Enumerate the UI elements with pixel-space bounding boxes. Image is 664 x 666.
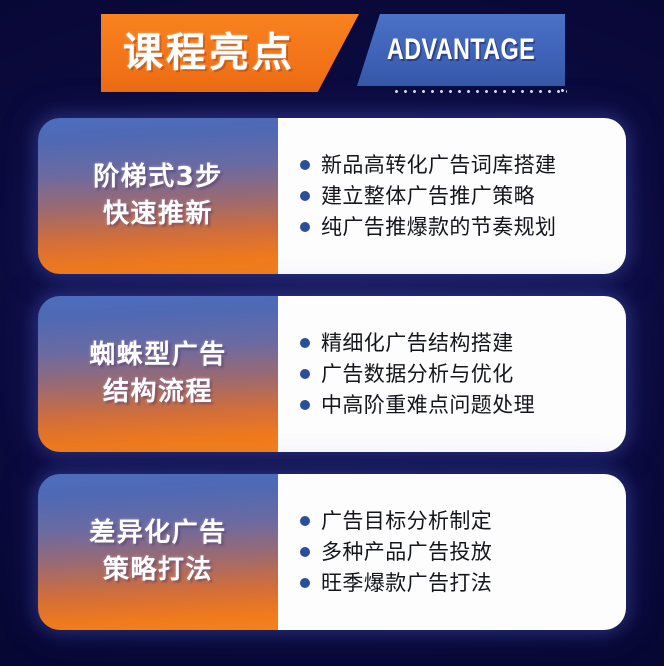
- highlight-card: 蜘蛛型广告 结构流程 精细化广告结构搭建 广告数据分析与优化 中高阶重难点问题处…: [38, 296, 626, 452]
- bullet-text: 纯广告推爆款的节奏规划: [321, 215, 556, 239]
- bullet-item: 广告数据分析与优化: [300, 362, 626, 386]
- header-chinese-block: 课程亮点: [101, 14, 359, 92]
- card-title-line-1: 阶梯式3步: [93, 164, 223, 191]
- card-title-panel: 蜘蛛型广告 结构流程: [38, 296, 278, 452]
- bullet-text: 广告目标分析制定: [321, 509, 492, 533]
- card-title-line-2: 策略打法: [103, 557, 213, 584]
- bullet-dot-icon: [300, 516, 310, 526]
- bullet-item: 建立整体广告推广策略: [300, 184, 626, 208]
- bullet-text: 广告数据分析与优化: [321, 362, 514, 386]
- card-title-line-2: 结构流程: [103, 379, 213, 406]
- bullet-item: 旺季爆款广告打法: [300, 571, 626, 595]
- bullet-dot-icon: [300, 578, 310, 588]
- card-title-line-2: 快速推新: [103, 201, 213, 228]
- highlight-card-list: 阶梯式3步 快速推新 新品高转化广告词库搭建 建立整体广告推广策略 纯广告推爆款…: [0, 118, 664, 652]
- card-bullet-panel: 精细化广告结构搭建 广告数据分析与优化 中高阶重难点问题处理: [278, 296, 626, 452]
- poster-root: ADVANTAGE 课程亮点 阶梯式3步 快速推新 新品高转化广告词库搭建 建立…: [0, 0, 664, 666]
- bullet-item: 多种产品广告投放: [300, 540, 626, 564]
- bullet-dot-icon: [300, 338, 310, 348]
- bullet-text: 建立整体广告推广策略: [321, 184, 535, 208]
- header-banner: ADVANTAGE 课程亮点: [0, 14, 664, 92]
- bullet-text: 新品高转化广告词库搭建: [321, 153, 556, 177]
- card-title-panel: 阶梯式3步 快速推新: [38, 118, 278, 274]
- card-bullet-panel: 广告目标分析制定 多种产品广告投放 旺季爆款广告打法: [278, 474, 626, 630]
- bullet-item: 中高阶重难点问题处理: [300, 393, 626, 417]
- highlight-card: 差异化广告 策略打法 广告目标分析制定 多种产品广告投放 旺季爆款广告打法: [38, 474, 626, 630]
- bullet-dot-icon: [300, 160, 310, 170]
- header-chinese-title: 课程亮点: [123, 33, 295, 73]
- bullet-item: 新品高转化广告词库搭建: [300, 153, 626, 177]
- bullet-dot-icon: [300, 400, 310, 410]
- highlight-card: 阶梯式3步 快速推新 新品高转化广告词库搭建 建立整体广告推广策略 纯广告推爆款…: [38, 118, 626, 274]
- bullet-text: 精细化广告结构搭建: [321, 331, 514, 355]
- bullet-item: 纯广告推爆款的节奏规划: [300, 215, 626, 239]
- card-bullet-panel: 新品高转化广告词库搭建 建立整体广告推广策略 纯广告推爆款的节奏规划: [278, 118, 626, 274]
- bullet-text: 多种产品广告投放: [321, 540, 492, 564]
- card-title-line-1: 蜘蛛型广告: [89, 342, 227, 369]
- bullet-dot-icon: [300, 191, 310, 201]
- bullet-item: 广告目标分析制定: [300, 509, 626, 533]
- dot-row-decoration: [392, 87, 567, 96]
- bullet-dot-icon: [300, 222, 310, 232]
- header-english-block: ADVANTAGE: [357, 14, 565, 86]
- bullet-text: 中高阶重难点问题处理: [321, 393, 535, 417]
- bullet-text: 旺季爆款广告打法: [321, 571, 492, 595]
- card-title-panel: 差异化广告 策略打法: [38, 474, 278, 630]
- card-title-line-1: 差异化广告: [89, 520, 227, 547]
- header-english-title: ADVANTAGE: [387, 33, 535, 67]
- bullet-dot-icon: [300, 369, 310, 379]
- bullet-item: 精细化广告结构搭建: [300, 331, 626, 355]
- bullet-dot-icon: [300, 547, 310, 557]
